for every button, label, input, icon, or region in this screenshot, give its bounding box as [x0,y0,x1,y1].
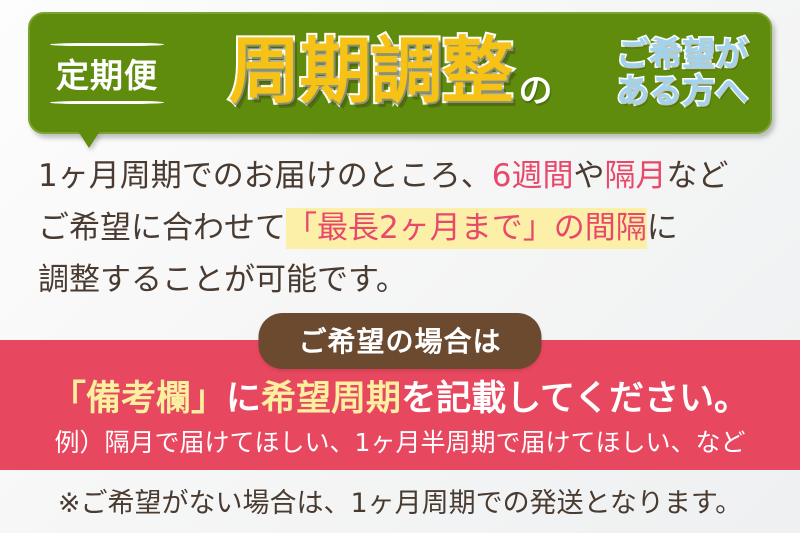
body-line1-part-b: や [573,158,604,194]
body-line-1: 1ヶ月周期でのお届けのところ、6週間や隔月など [38,150,764,202]
band-main-part-2: を記載してください。 [401,379,749,419]
header-green-box: 定期便 周期調整の ご希望が ある方へ [28,12,772,134]
body-line1-part-a: 1ヶ月周期でのお届けのところ、 [38,158,492,194]
band-main-text: 「備考欄」に希望周期を記載してください。 [0,370,800,421]
body-line-3: 調整することが可能です。 [38,254,764,306]
body-line2-highlight-max2months: 「最長2ヶ月まで」の間隔 [286,208,647,249]
header-right-note-line1: ご希望が [616,36,748,73]
subscription-badge-label: 定期便 [54,41,160,106]
header-right-note: ご希望が ある方へ [616,36,748,110]
footer-default-note: ※ご希望がない場合は、1ヶ月周期での発送となります。 [0,481,800,520]
header-title: 周期調整の [166,35,614,108]
body-line-2: ご希望に合わせて「最長2ヶ月まで」の間隔に [38,202,764,254]
body-paragraph: 1ヶ月周期でのお届けのところ、6週間や隔月など ご希望に合わせて「最長2ヶ月まで… [38,150,764,306]
band-example-text: 例）隔月で届けてほしい、1ヶ月半周期で届けてほしい、など [0,423,800,459]
request-case-pill: ご希望の場合は [258,313,541,369]
body-line1-part-c: など [666,158,728,194]
header-right-note-line2: ある方へ [616,73,748,110]
promo-banner: 定期便 周期調整の ご希望が ある方へ 1ヶ月周期でのお届けのところ、6週間や隔… [0,0,800,533]
band-main-part-1: に [226,379,261,419]
speech-bubble-tail [78,131,100,148]
body-line1-emphasis-bimonthly: 隔月 [604,158,666,194]
band-keyword-desired-cycle: 希望周期 [261,379,401,419]
body-line2-part-b: に [647,210,678,246]
body-line2-part-a: ご希望に合わせて [38,210,286,246]
header-title-particle: の [519,71,552,111]
header-title-text: 周期調整 [228,29,512,113]
body-line1-emphasis-6weeks: 6週間 [492,158,574,194]
band-keyword-remarks-field: 「備考欄」 [51,379,226,419]
